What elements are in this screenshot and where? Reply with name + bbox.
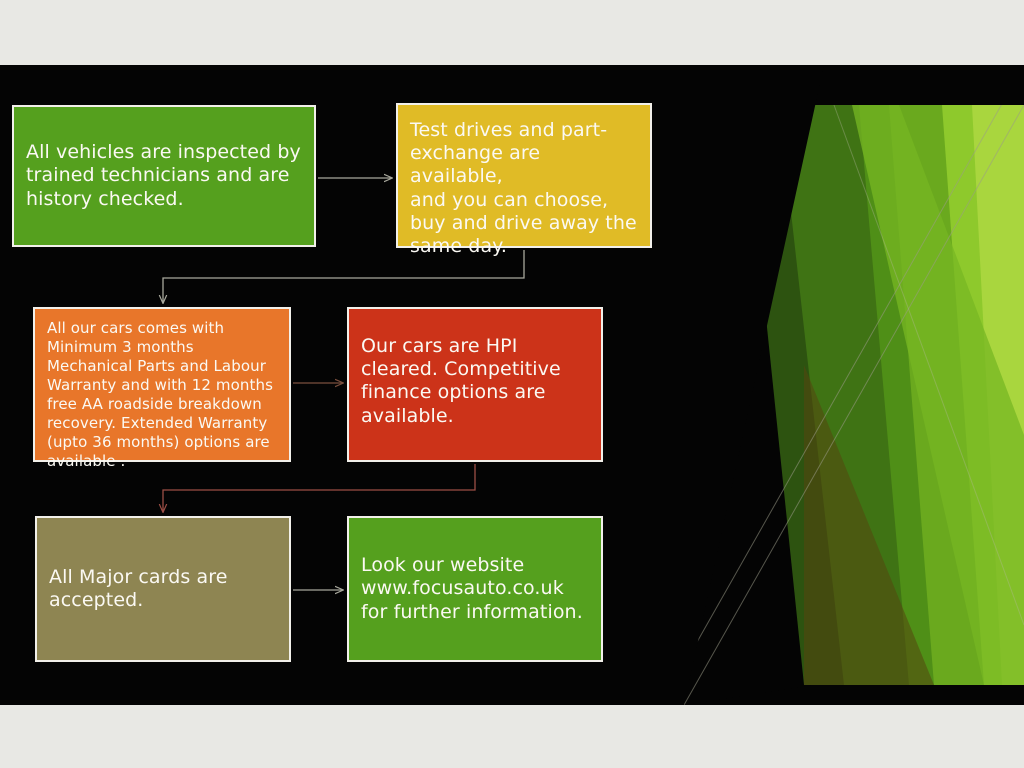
node-cards[interactable]: All Major cards are accepted. xyxy=(35,516,291,662)
node-warranty[interactable]: All our cars comes with Minimum 3 months… xyxy=(33,307,291,462)
letterbox-bottom xyxy=(0,705,1024,768)
node-hpi-finance[interactable]: Our cars are HPI cleared. Competitive fi… xyxy=(347,307,603,462)
letterbox-top xyxy=(0,0,1024,65)
node-test-drives[interactable]: Test drives and part- exchange are avail… xyxy=(396,103,652,248)
node-website[interactable]: Look our website www.focusauto.co.uk for… xyxy=(347,516,603,662)
slide-canvas: All vehicles are inspected by trained te… xyxy=(0,65,1024,705)
slide-page: All vehicles are inspected by trained te… xyxy=(0,0,1024,768)
node-inspection[interactable]: All vehicles are inspected by trained te… xyxy=(12,105,316,247)
